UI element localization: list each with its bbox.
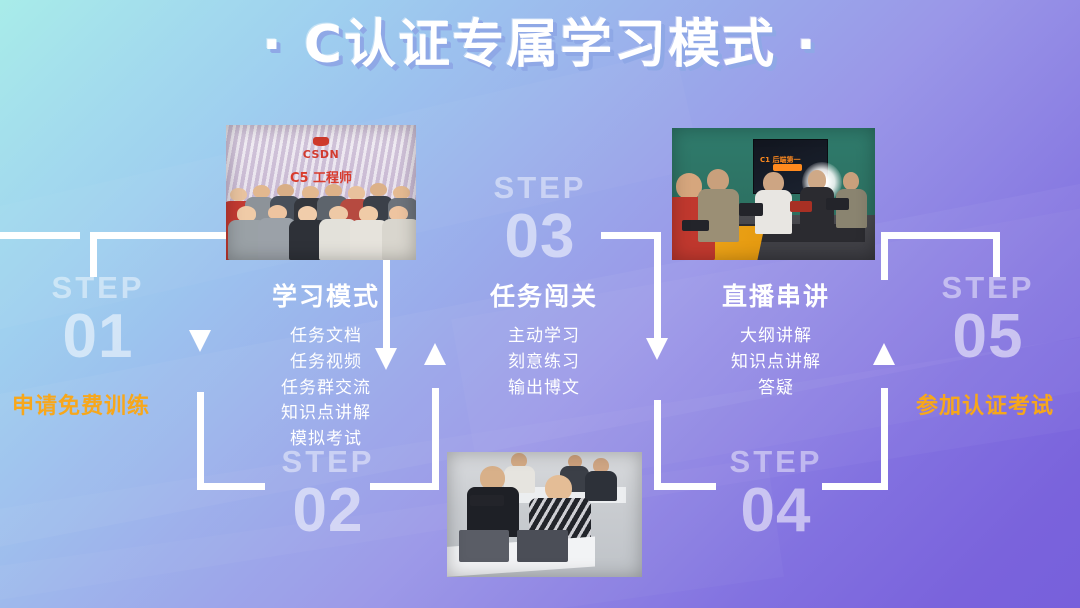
cta-take-certification-exam[interactable]: 参加认证考试 [916,388,1054,420]
step-03: STEP 03 [460,172,620,268]
photo-studio-vignette [672,128,875,260]
column-task-challenge: 任务闯关 主动学习 刻意练习 输出博文 [446,282,642,401]
step-01-word: STEP [18,272,178,303]
list-item: 答疑 [678,376,874,402]
connector-line-up-2 [881,388,888,490]
column-live-lecture-list: 大纲讲解 知识点讲解 答疑 [678,324,874,401]
list-item: 知识点讲解 [228,401,424,427]
column-live-lecture-title: 直播串讲 [678,282,874,312]
column-task-challenge-list: 主动学习 刻意练习 输出博文 [446,324,642,401]
photo-lab [447,452,642,577]
step-05-number: 05 [908,305,1068,368]
connector-arrow-down-2 [189,330,211,352]
connector-line-down-2 [197,392,204,490]
list-item: 主动学习 [446,324,642,350]
list-item: 任务群交流 [228,376,424,402]
list-item: 知识点讲解 [678,350,874,376]
column-learning-mode: 学习模式 任务文档 任务视频 任务群交流 知识点讲解 模拟考试 [228,282,424,453]
step-01: STEP 01 [18,272,178,368]
list-item: 大纲讲解 [678,324,874,350]
step-04: STEP 04 [696,446,856,542]
connector-line-up-1 [432,388,439,490]
page-title: · C认证专属学习模式 · [0,16,1080,76]
step-02-number: 02 [248,479,408,542]
photo-group-vignette [226,125,416,260]
column-live-lecture: 直播串讲 大纲讲解 知识点讲解 答疑 [678,282,874,401]
list-item: 模拟考试 [228,427,424,453]
step-03-word: STEP [460,172,620,203]
step-02: STEP 02 [248,446,408,542]
connector-arrow-up-1 [424,343,446,365]
step-03-number: 03 [460,205,620,268]
poster-canvas: · C认证专属学习模式 · STEP 01 STEP 02 STEP 03 ST… [0,0,1080,608]
photo-studio: C1 后端第一 [672,128,875,260]
list-item: 任务视频 [228,350,424,376]
connector-line-edge-left [0,232,80,239]
connector-line-down-3 [654,232,661,352]
column-task-challenge-title: 任务闯关 [446,282,642,312]
step-05: STEP 05 [908,272,1068,368]
photo-lab-vignette [447,452,642,577]
step-01-number: 01 [18,305,178,368]
column-learning-mode-title: 学习模式 [228,282,424,312]
photo-group: CSDN C5 工程师 [226,125,416,260]
connector-line-top-right [881,232,1000,239]
connector-line-down-4 [654,400,661,490]
list-item: 任务文档 [228,324,424,350]
column-learning-mode-list: 任务文档 任务视频 任务群交流 知识点讲解 模拟考试 [228,324,424,453]
step-04-word: STEP [696,446,856,477]
connector-arrow-down-3 [646,338,668,360]
list-item: 输出博文 [446,376,642,402]
step-04-number: 04 [696,479,856,542]
cta-apply-free-training[interactable]: 申请免费训练 [12,388,150,420]
connector-arrow-up-2 [873,343,895,365]
page-title-text: · C认证专属学习模式 · [262,16,818,76]
list-item: 刻意练习 [446,350,642,376]
connector-line-right-stub-b [881,232,888,280]
step-05-word: STEP [908,272,1068,303]
